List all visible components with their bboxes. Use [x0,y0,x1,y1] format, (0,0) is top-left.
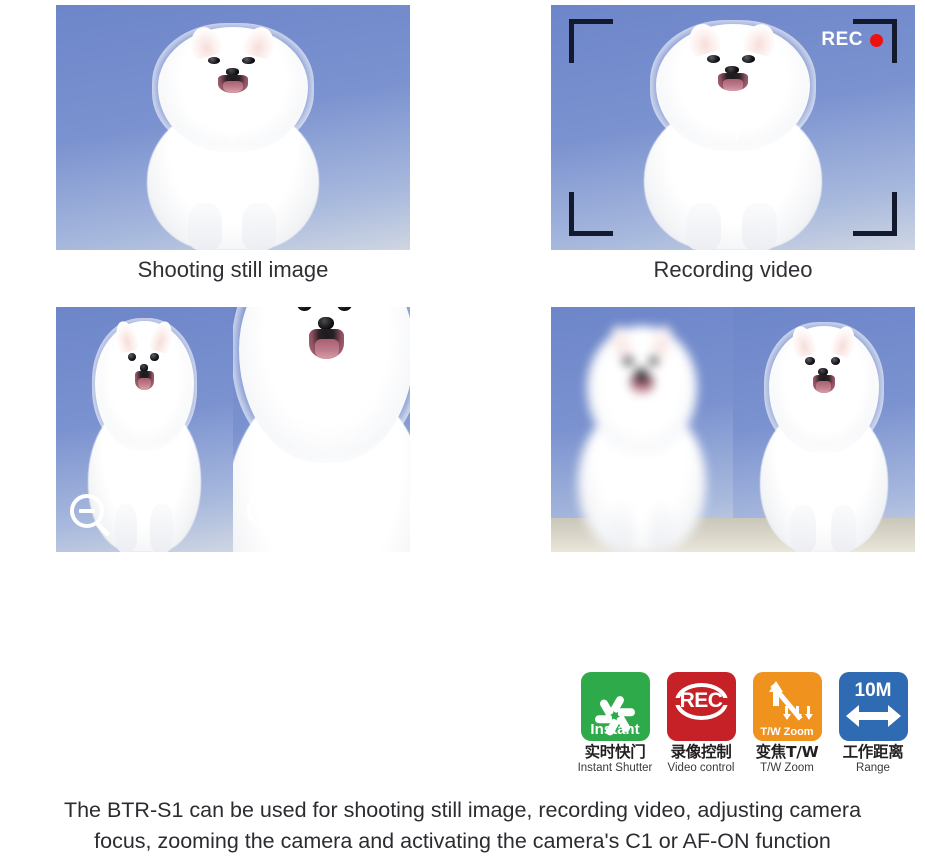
caption-recording-video: Recording video [551,257,915,283]
dog-ear-left [788,324,818,359]
dog-eye-left [805,357,814,365]
dog-ear-left [685,21,723,59]
panel-zooming-the-camera: Zooming the camera [56,307,410,552]
dog-ear-left [112,319,139,354]
dog-leg-left [188,203,222,250]
dog-ear-right [742,21,780,59]
crosshair-icon [727,122,746,141]
product-feature-graphic: Shooting still image [0,0,925,860]
dog-leg-left [115,504,137,552]
dog-mouth [218,75,248,93]
badge-tile-tw-zoom: T/W Zoom [753,672,822,741]
dog-head [587,326,698,453]
rec-status-badge: REC [821,29,883,51]
dog-eye-left [623,357,632,365]
photo-zooming-the-camera [56,307,410,552]
dog-leg-right [831,505,856,552]
dog-leg-left [790,505,815,552]
badge-cn-instant-shutter: 实时快门 [576,744,654,761]
rec-label: REC [821,29,863,51]
double-arrow-icon [846,705,901,727]
dog-leg-right [649,505,674,552]
dog-tongue [223,81,243,93]
dog-mouth [135,371,155,389]
caption-shooting-still-image: Shooting still image [56,257,410,283]
badge-tile-range: 10M [839,672,908,741]
badge-instant-shutter: Instant 实时快门 Instant Shutter [576,672,654,776]
badge-tile-label-zoom: T/W Zoom [753,726,822,738]
dog-eye-left [128,353,136,361]
photo-recording-video: REC [551,5,915,250]
photo-in-focus [733,307,915,552]
zoom-in-icon [247,494,293,540]
magnifier-handle [95,522,111,538]
badge-video-control: REC 录像控制 Video control [662,672,740,776]
dog-leg-right [242,203,276,250]
dog-eye-right [742,55,755,63]
dog-eye-left [208,57,221,65]
dog-nose [318,317,334,330]
photo-zoom-wide [56,307,233,552]
dog-tongue [315,339,339,359]
magnifier-handle [272,522,288,538]
dog-subject-blurred [558,317,725,552]
af-corner-top-right [258,93,275,110]
dog-eye-left [297,307,312,311]
badge-tile-instant-shutter: Instant [581,672,650,741]
af-corner-top-left [200,93,217,110]
dog-leg-left [686,203,721,250]
dog-subject-sharp [740,317,907,552]
dog-mouth [631,375,653,393]
crosshair-icon [222,122,241,141]
dog-eye-right [242,57,255,65]
badge-cn-range: 工作距离 [834,744,912,761]
badge-tw-zoom: T/W Zoom 变焦T/W T/W Zoom [748,672,826,776]
badge-cn-video-control: 录像控制 [662,744,740,761]
dog-ear-left [186,23,223,60]
viewfinder-corner-bottom-left [569,192,613,236]
dog-tongue [138,378,151,390]
dog-eye-left [707,55,720,63]
badge-tile-label-range: 10M [839,680,908,702]
badge-en-tw-zoom: T/W Zoom [748,762,826,776]
dog-mouth [718,73,749,91]
rec-indicator-dot [870,34,883,47]
badge-tile-label-rec: REC [667,689,736,713]
dog-head [95,321,193,451]
photo-out-of-focus [551,307,733,552]
viewfinder-corner-bottom-right [853,192,897,236]
photo-shooting-still-image [56,5,410,250]
dog-head [769,326,880,453]
dog-eye-right [831,357,840,365]
dog-leg-left [608,505,633,552]
dog-mouth [813,375,835,393]
panel-shooting-still-image: Shooting still image [56,5,410,250]
dog-tongue [634,381,649,393]
footer-line-2: focus, zooming the camera and activating… [0,826,925,857]
photo-adjusting-camera-focus [551,307,915,552]
dog-leg-right [742,203,777,250]
dog-ear-left [606,324,636,359]
dog-mouth [309,329,344,360]
panel-recording-video: REC Recording video [551,5,915,250]
af-corner-bottom-right [258,146,275,163]
dog-ear-right [829,324,859,359]
plus-sign-vertical [262,503,266,519]
photo-zoom-tele [233,307,410,552]
dog-ear-right [148,319,175,354]
badge-range: 10M 工作距离 Range [834,672,912,776]
dog-eye-right [337,307,352,311]
footer-line-1: The BTR-S1 can be used for shooting stil… [0,795,925,826]
viewfinder-corner-top-left [569,19,613,63]
minus-sign [79,509,95,513]
af-corner-bottom-left [200,146,217,163]
dog-leg-right [150,504,172,552]
badge-cn-tw-zoom: 变焦T/W [748,744,826,761]
badge-tile-label-instant: Instant [581,721,650,738]
footer-description: The BTR-S1 can be used for shooting stil… [0,795,925,857]
dog-eye-right [649,357,658,365]
dog-ear-right [241,23,278,60]
dog-ear-right [647,324,677,359]
badge-en-range: Range [834,762,912,776]
zoom-out-icon [70,494,116,540]
badge-en-instant-shutter: Instant Shutter [576,762,654,776]
panel-adjusting-camera-focus: Adjusting camera focus [551,307,915,552]
dog-tongue [816,381,831,393]
dog-tongue [723,79,744,91]
badge-en-video-control: Video control [662,762,740,776]
dog-eye-right [150,353,158,361]
feature-badge-row: Instant 实时快门 Instant Shutter REC 录像控制 Vi… [576,672,912,776]
badge-tile-video-control: REC [667,672,736,741]
